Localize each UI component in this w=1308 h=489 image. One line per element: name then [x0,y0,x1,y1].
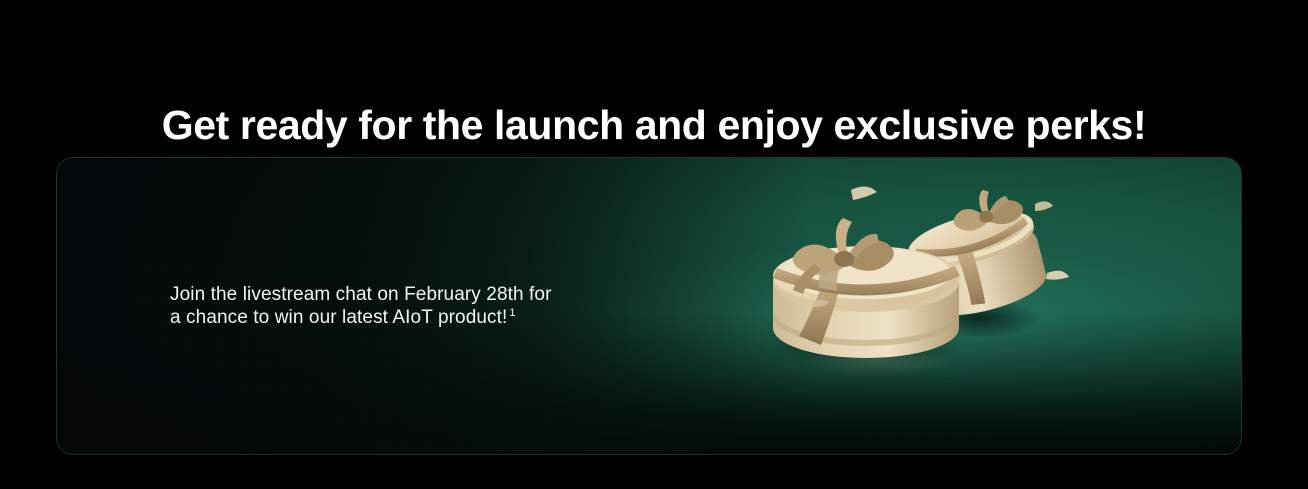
footnote-marker: 1 [509,307,515,319]
gift-boxes-illustration [747,178,1107,438]
confetti-piece-right [1046,271,1069,280]
card-body-text: Join the livestream chat on February 28t… [170,283,610,329]
gift-boxes-image [747,178,1107,438]
page-title: Get ready for the launch and enjoy exclu… [0,97,1308,153]
perks-card: Join the livestream chat on February 28t… [56,157,1242,455]
confetti-piece-top-left [851,186,877,200]
card-body-line-1: Join the livestream chat on February 28t… [170,284,552,305]
card-body-line-2: a chance to win our latest AIoT product! [170,307,507,328]
confetti-piece-top-right [1035,201,1053,211]
